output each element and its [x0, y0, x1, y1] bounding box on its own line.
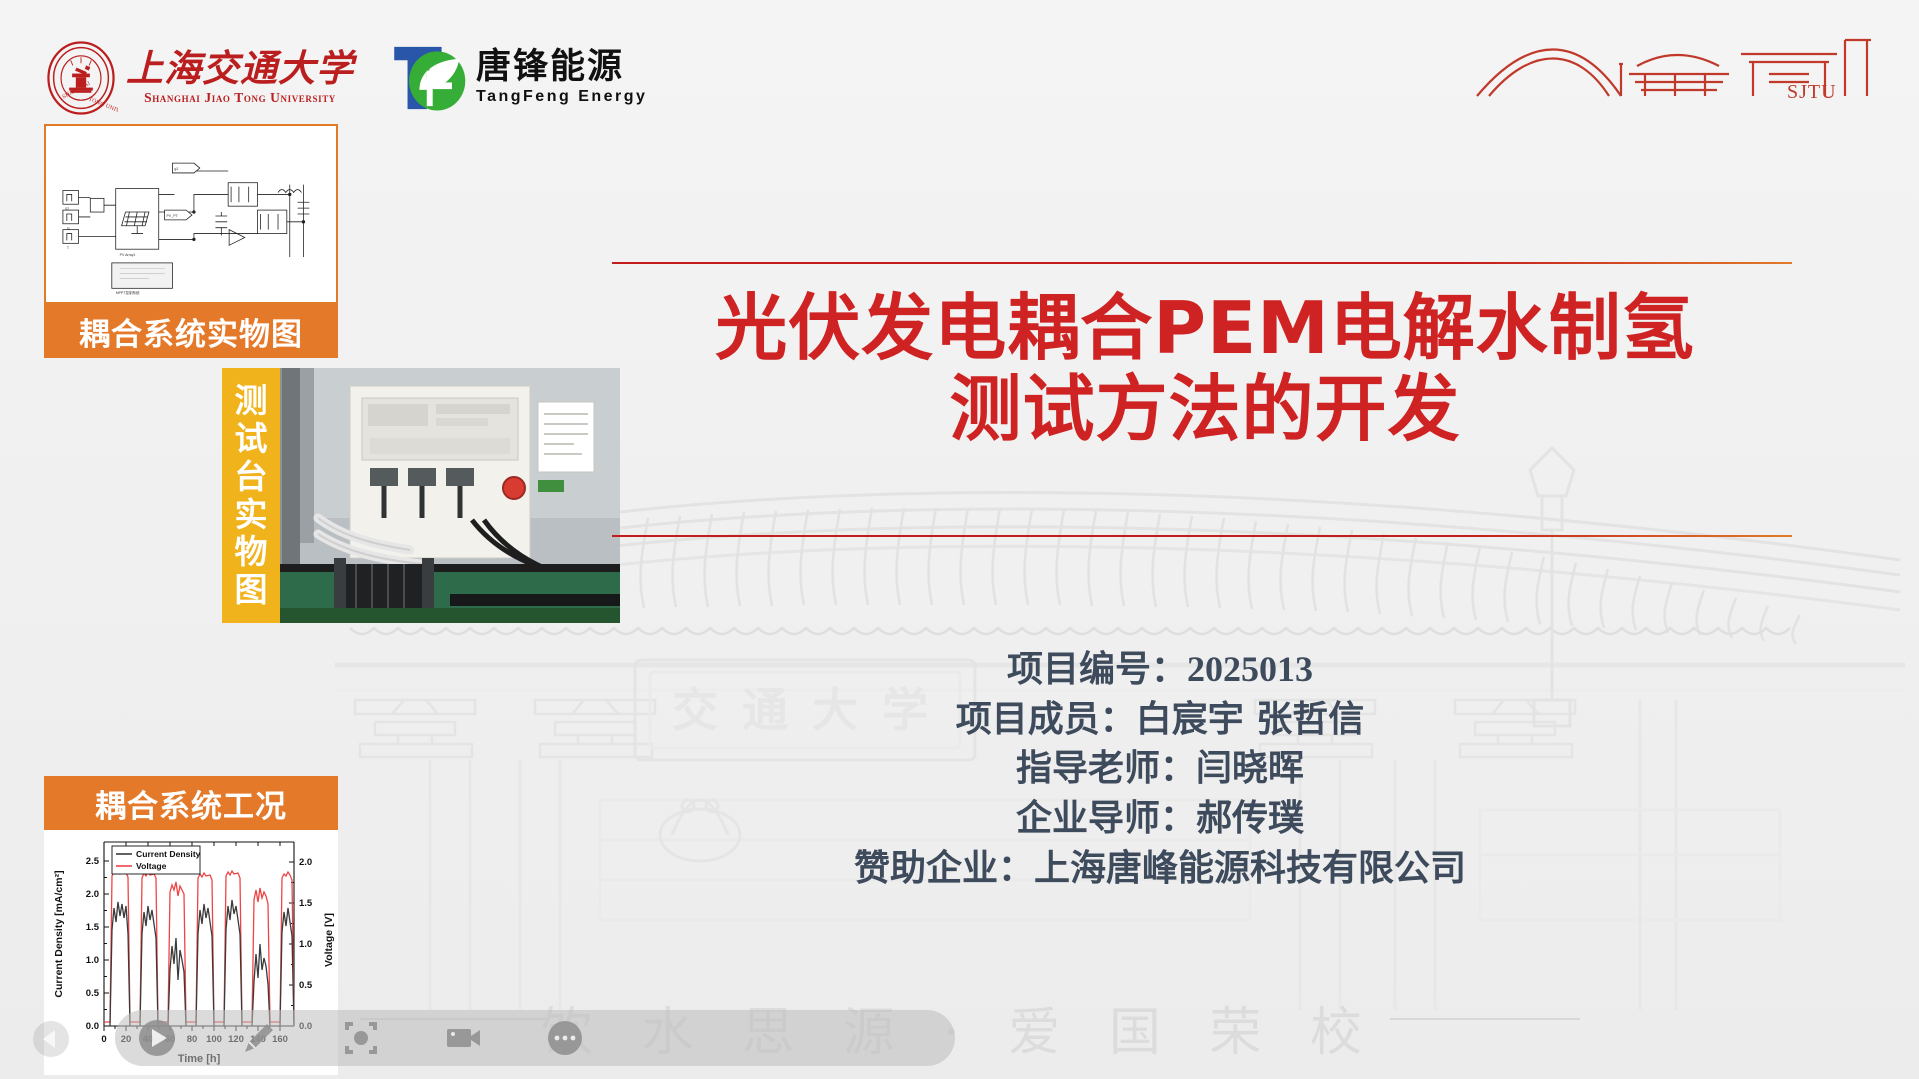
project-id-value: 2025013 — [1187, 649, 1313, 689]
info-row-advisor: 指导老师：闫晓晖 — [760, 744, 1560, 794]
project-id-label: 项目编号： — [1007, 649, 1187, 690]
caption-test-bench-vertical: 测 试 台 实 物 图 — [222, 368, 280, 623]
video-icon[interactable] — [443, 1018, 483, 1058]
title-line-2: 测试方法的开发 — [600, 369, 1810, 450]
tangfeng-logo: 唐锋能源 TangFeng Energy — [388, 41, 647, 115]
title-line-1: 光伏发电耦合PEM电解水制氢 — [715, 286, 1695, 370]
info-row-members: 项目成员：白宸宇 张哲信 — [760, 695, 1560, 745]
y2tick-4: 2.0 — [299, 857, 312, 868]
legend-current-density: Current Density — [136, 849, 201, 859]
project-info-block: 项目编号：2025013 项目成员：白宸宇 张哲信 指导老师：闫晓晖 企业导师：… — [760, 645, 1560, 893]
info-row-project-id: 项目编号：2025013 — [760, 645, 1560, 695]
info-row-sponsor: 赞助企业：上海唐峰能源科技有限公司 — [760, 844, 1560, 894]
sim-signal-g: G — [67, 227, 70, 231]
sjtu-wordmark: 上海交通大学 Shanghai Jiao Tong University — [126, 49, 354, 106]
sjtu-gate-lineart-icon: SJTU — [1469, 24, 1889, 104]
ytick-5: 2.5 — [86, 856, 100, 867]
sim-scope-pvpt: PV_PT — [167, 214, 179, 218]
legend-voltage: Voltage — [136, 861, 167, 871]
title-rule-bottom — [612, 535, 1792, 537]
tangfeng-wordmark: 唐锋能源 TangFeng Energy — [476, 49, 647, 106]
tangfeng-name-cn: 唐锋能源 — [476, 49, 647, 86]
ytick-3: 1.5 — [86, 922, 100, 933]
ytick-4: 2.0 — [86, 889, 99, 900]
sponsor-value: 上海唐峰能源科技有限公司 — [1034, 848, 1466, 889]
presentation-slide: 交通 大学 — [0, 0, 1919, 1079]
sjtu-seal-icon: SHANGHAI TONG UNIV — [44, 41, 118, 115]
caption-operating-chart: 耦合系统工况 — [44, 776, 338, 830]
y2tick-3: 1.5 — [299, 898, 313, 909]
vlabel-char-5: 物 — [235, 533, 268, 571]
mentor-label: 企业导师： — [1016, 798, 1196, 839]
coupled-system-diagram-thumbnail[interactable]: S2 G T PV Array1 MPPT控制系统 g2 PV_PT — [44, 124, 338, 304]
members-label: 项目成员： — [956, 699, 1136, 740]
gate-sjtu-text: SJTU — [1787, 81, 1837, 103]
svg-text:交: 交 — [672, 683, 718, 737]
logo-row: SHANGHAI TONG UNIV 上海交通大学 Shanghai Jiao … — [44, 30, 647, 125]
tangfeng-name-en: TangFeng Energy — [476, 88, 647, 106]
media-toolbar[interactable] — [115, 1010, 955, 1066]
crop-icon[interactable] — [341, 1018, 381, 1058]
sjtu-logo: SHANGHAI TONG UNIV 上海交通大学 Shanghai Jiao … — [44, 41, 354, 115]
vlabel-char-3: 台 — [235, 458, 268, 496]
test-bench-photo-thumbnail[interactable] — [222, 368, 620, 623]
sim-scope-g2: g2 — [174, 167, 178, 171]
play-icon[interactable] — [137, 1018, 177, 1058]
sponsor-label: 赞助企业： — [854, 848, 1034, 889]
chart-ylabel: Current Density [mA/cm²] — [53, 870, 65, 997]
sjtu-name-cn: 上海交通大学 — [126, 49, 354, 88]
advisor-value: 闫晓晖 — [1196, 748, 1304, 789]
sim-block-pv: PV Array1 — [120, 253, 136, 257]
ytick-2: 1.0 — [86, 955, 99, 966]
vlabel-char-1: 测 — [235, 382, 268, 420]
more-icon[interactable] — [545, 1018, 585, 1058]
info-row-mentor: 企业导师：郝传璞 — [760, 794, 1560, 844]
caption-coupled-system: 耦合系统实物图 — [44, 304, 338, 358]
vlabel-char-6: 图 — [235, 571, 268, 609]
y2tick-2: 1.0 — [299, 939, 312, 950]
test-bench-photo — [222, 368, 620, 623]
vlabel-char-4: 实 — [235, 496, 268, 534]
advisor-label: 指导老师： — [1016, 748, 1196, 789]
chart-y2label: Voltage [V] — [323, 913, 335, 967]
simulink-block-diagram: S2 G T PV Array1 MPPT控制系统 g2 PV_PT — [46, 126, 336, 302]
previous-slide-icon[interactable] — [30, 1018, 72, 1060]
sjtu-name-en: Shanghai Jiao Tong University — [144, 90, 336, 106]
vlabel-char-2: 试 — [235, 420, 268, 458]
pen-icon[interactable] — [239, 1018, 279, 1058]
members-value: 白宸宇 张哲信 — [1136, 699, 1365, 740]
page-title: 光伏发电耦合PEM电解水制氢 测试方法的开发 — [600, 288, 1810, 449]
sim-signal-s2: S2 — [65, 207, 69, 211]
title-rule-top — [612, 262, 1792, 264]
chart-legend: Current Density Voltage — [112, 846, 201, 874]
tangfeng-mark-icon — [388, 41, 470, 115]
motto-divider-right — [1390, 1018, 1580, 1020]
mentor-value: 郝传璞 — [1196, 798, 1304, 839]
sim-block-mppt: MPPT控制系统 — [116, 290, 140, 295]
